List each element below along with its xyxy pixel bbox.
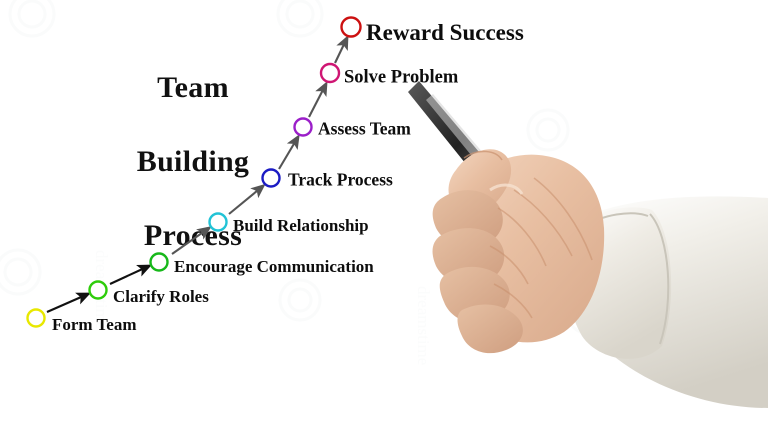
step-label-solve-problem[interactable]: Solve Problem: [344, 68, 458, 89]
arrow-4-to-5: [229, 186, 263, 214]
step-marker-5[interactable]: [263, 170, 280, 187]
step-marker-7[interactable]: [321, 64, 339, 82]
arrow-3-to-4: [172, 228, 209, 254]
arrow-1-to-2: [47, 294, 88, 312]
step-label-form-team[interactable]: Form Team: [52, 315, 137, 335]
step-marker-1[interactable]: [28, 310, 45, 327]
step-marker-8[interactable]: [342, 18, 361, 37]
step-marker-3[interactable]: [151, 254, 168, 271]
process-arrows-and-markers: [0, 0, 768, 425]
step-marker-2[interactable]: [90, 282, 107, 299]
step-label-reward-success[interactable]: Reward Success: [366, 20, 524, 46]
arrow-2-to-3: [110, 266, 149, 284]
step-marker-6[interactable]: [295, 119, 312, 136]
step-marker-4[interactable]: [210, 214, 227, 231]
step-label-clarify-roles[interactable]: Clarify Roles: [113, 287, 209, 307]
arrow-5-to-6: [279, 137, 298, 169]
step-label-assess-team[interactable]: Assess Team: [318, 119, 411, 140]
step-label-build-relationship[interactable]: Build Relationship: [233, 216, 369, 236]
diagram-canvas: Team Building Process dreamstime dreamst…: [0, 0, 768, 425]
arrow-7-to-8: [335, 38, 347, 63]
step-label-encourage-communication[interactable]: Encourage Communication: [174, 257, 374, 277]
arrow-6-to-7: [309, 84, 326, 117]
step-label-track-process[interactable]: Track Process: [288, 170, 393, 191]
